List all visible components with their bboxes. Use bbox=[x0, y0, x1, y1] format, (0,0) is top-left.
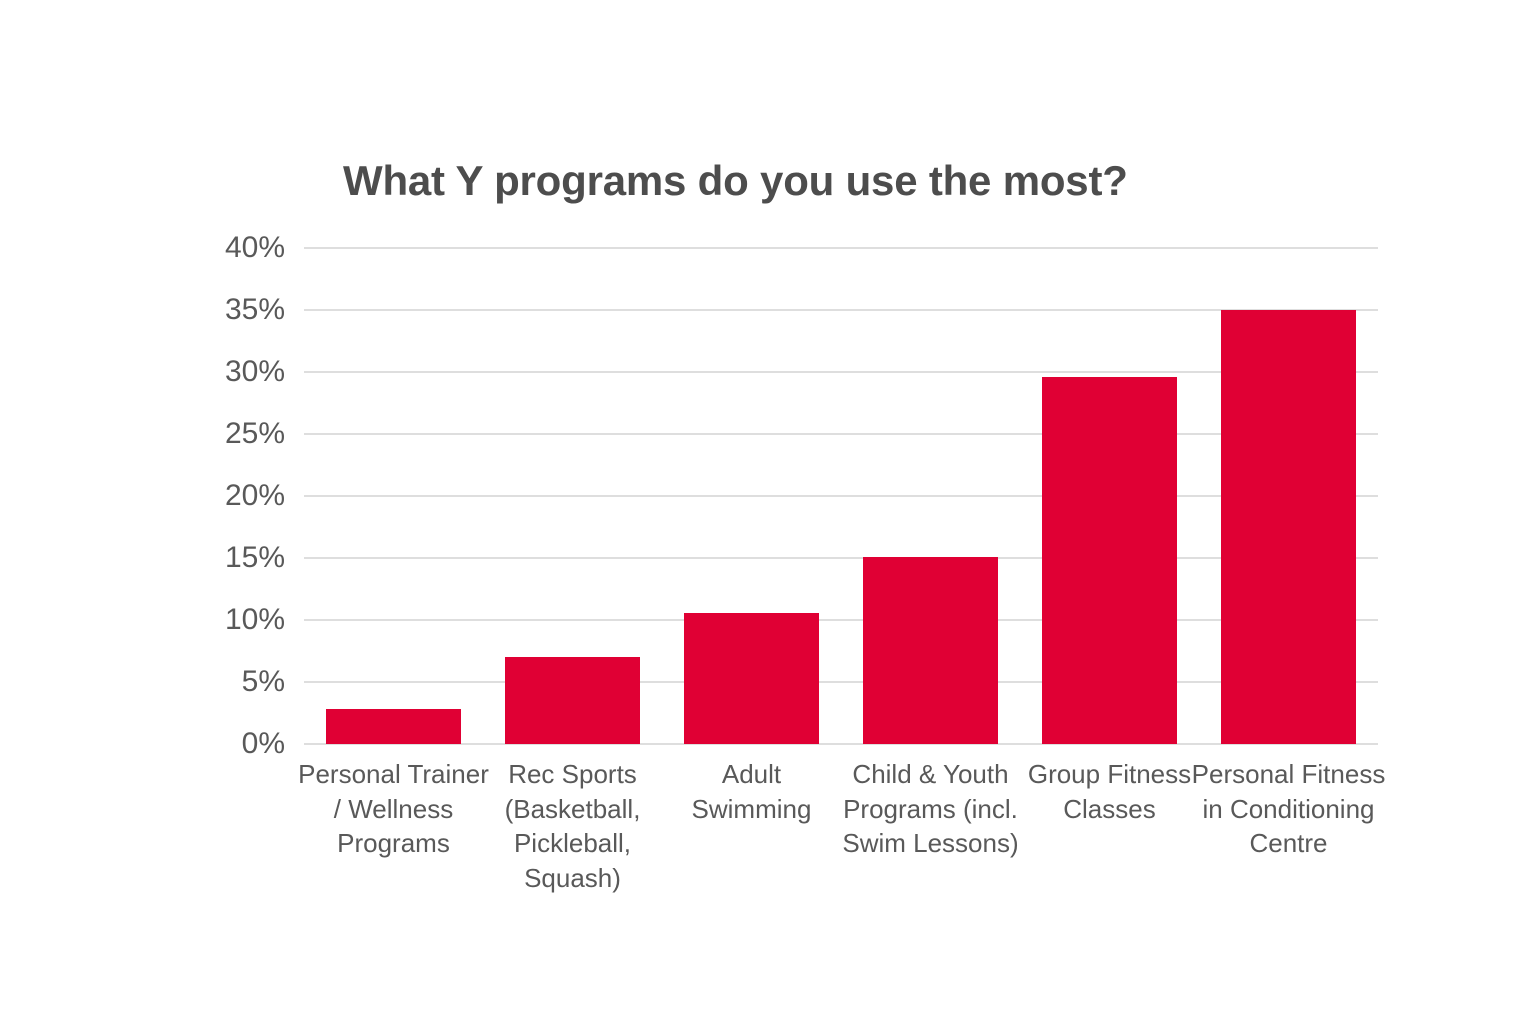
x-axis-label-line: Centre bbox=[1191, 826, 1386, 861]
bar-chart: What Y programs do you use the most? 0%5… bbox=[0, 0, 1536, 1024]
x-axis-label-line: Swimming bbox=[654, 792, 849, 827]
bar[interactable] bbox=[326, 709, 461, 744]
y-axis: 0%5%10%15%20%25%30%35%40% bbox=[190, 248, 285, 744]
x-axis-label-line: Group Fitness bbox=[1012, 757, 1207, 792]
x-axis-category-label: AdultSwimming bbox=[654, 757, 849, 826]
y-axis-tick-label: 0% bbox=[195, 729, 285, 759]
x-axis-category-label: Rec Sports(Basketball,Pickleball,Squash) bbox=[475, 757, 670, 895]
x-axis-label-line: Pickleball, bbox=[475, 826, 670, 861]
y-axis-tick-label: 15% bbox=[195, 543, 285, 573]
bar[interactable] bbox=[684, 613, 819, 744]
x-axis-label-line: Squash) bbox=[475, 861, 670, 896]
bar[interactable] bbox=[1221, 310, 1356, 744]
bar[interactable] bbox=[505, 657, 640, 744]
x-axis-label-line: Classes bbox=[1012, 792, 1207, 827]
plot-area bbox=[304, 248, 1378, 744]
x-axis-label-line: Programs bbox=[296, 826, 491, 861]
y-axis-tick-label: 30% bbox=[195, 357, 285, 387]
x-axis-category-label: Child & YouthPrograms (incl.Swim Lessons… bbox=[833, 757, 1028, 861]
y-axis-tick-label: 40% bbox=[195, 233, 285, 263]
x-axis-label-line: (Basketball, bbox=[475, 792, 670, 827]
x-axis-category-label: Group FitnessClasses bbox=[1012, 757, 1207, 826]
y-axis-tick-label: 5% bbox=[195, 667, 285, 697]
y-axis-tick-label: 10% bbox=[195, 605, 285, 635]
x-axis-label-line: Child & Youth bbox=[833, 757, 1028, 792]
x-axis-category-label: Personal Trainer/ WellnessPrograms bbox=[296, 757, 491, 861]
y-axis-tick-label: 20% bbox=[195, 481, 285, 511]
y-axis-tick-label: 25% bbox=[195, 419, 285, 449]
y-axis-tick-label: 35% bbox=[195, 295, 285, 325]
x-axis-label-line: Rec Sports bbox=[475, 757, 670, 792]
x-axis-label-line: Programs (incl. bbox=[833, 792, 1028, 827]
x-axis-label-line: Personal Trainer bbox=[296, 757, 491, 792]
chart-title: What Y programs do you use the most? bbox=[343, 158, 1343, 204]
x-axis-category-label: Personal Fitnessin ConditioningCentre bbox=[1191, 757, 1386, 861]
x-axis-label-line: Swim Lessons) bbox=[833, 826, 1028, 861]
x-axis-label-line: / Wellness bbox=[296, 792, 491, 827]
bar[interactable] bbox=[863, 557, 998, 744]
x-axis-label-line: in Conditioning bbox=[1191, 792, 1386, 827]
bars-layer bbox=[304, 248, 1378, 744]
x-axis-label-line: Adult bbox=[654, 757, 849, 792]
bar[interactable] bbox=[1042, 377, 1177, 744]
x-axis-label-line: Personal Fitness bbox=[1191, 757, 1386, 792]
x-axis-labels: Personal Trainer/ WellnessProgramsRec Sp… bbox=[304, 757, 1378, 917]
